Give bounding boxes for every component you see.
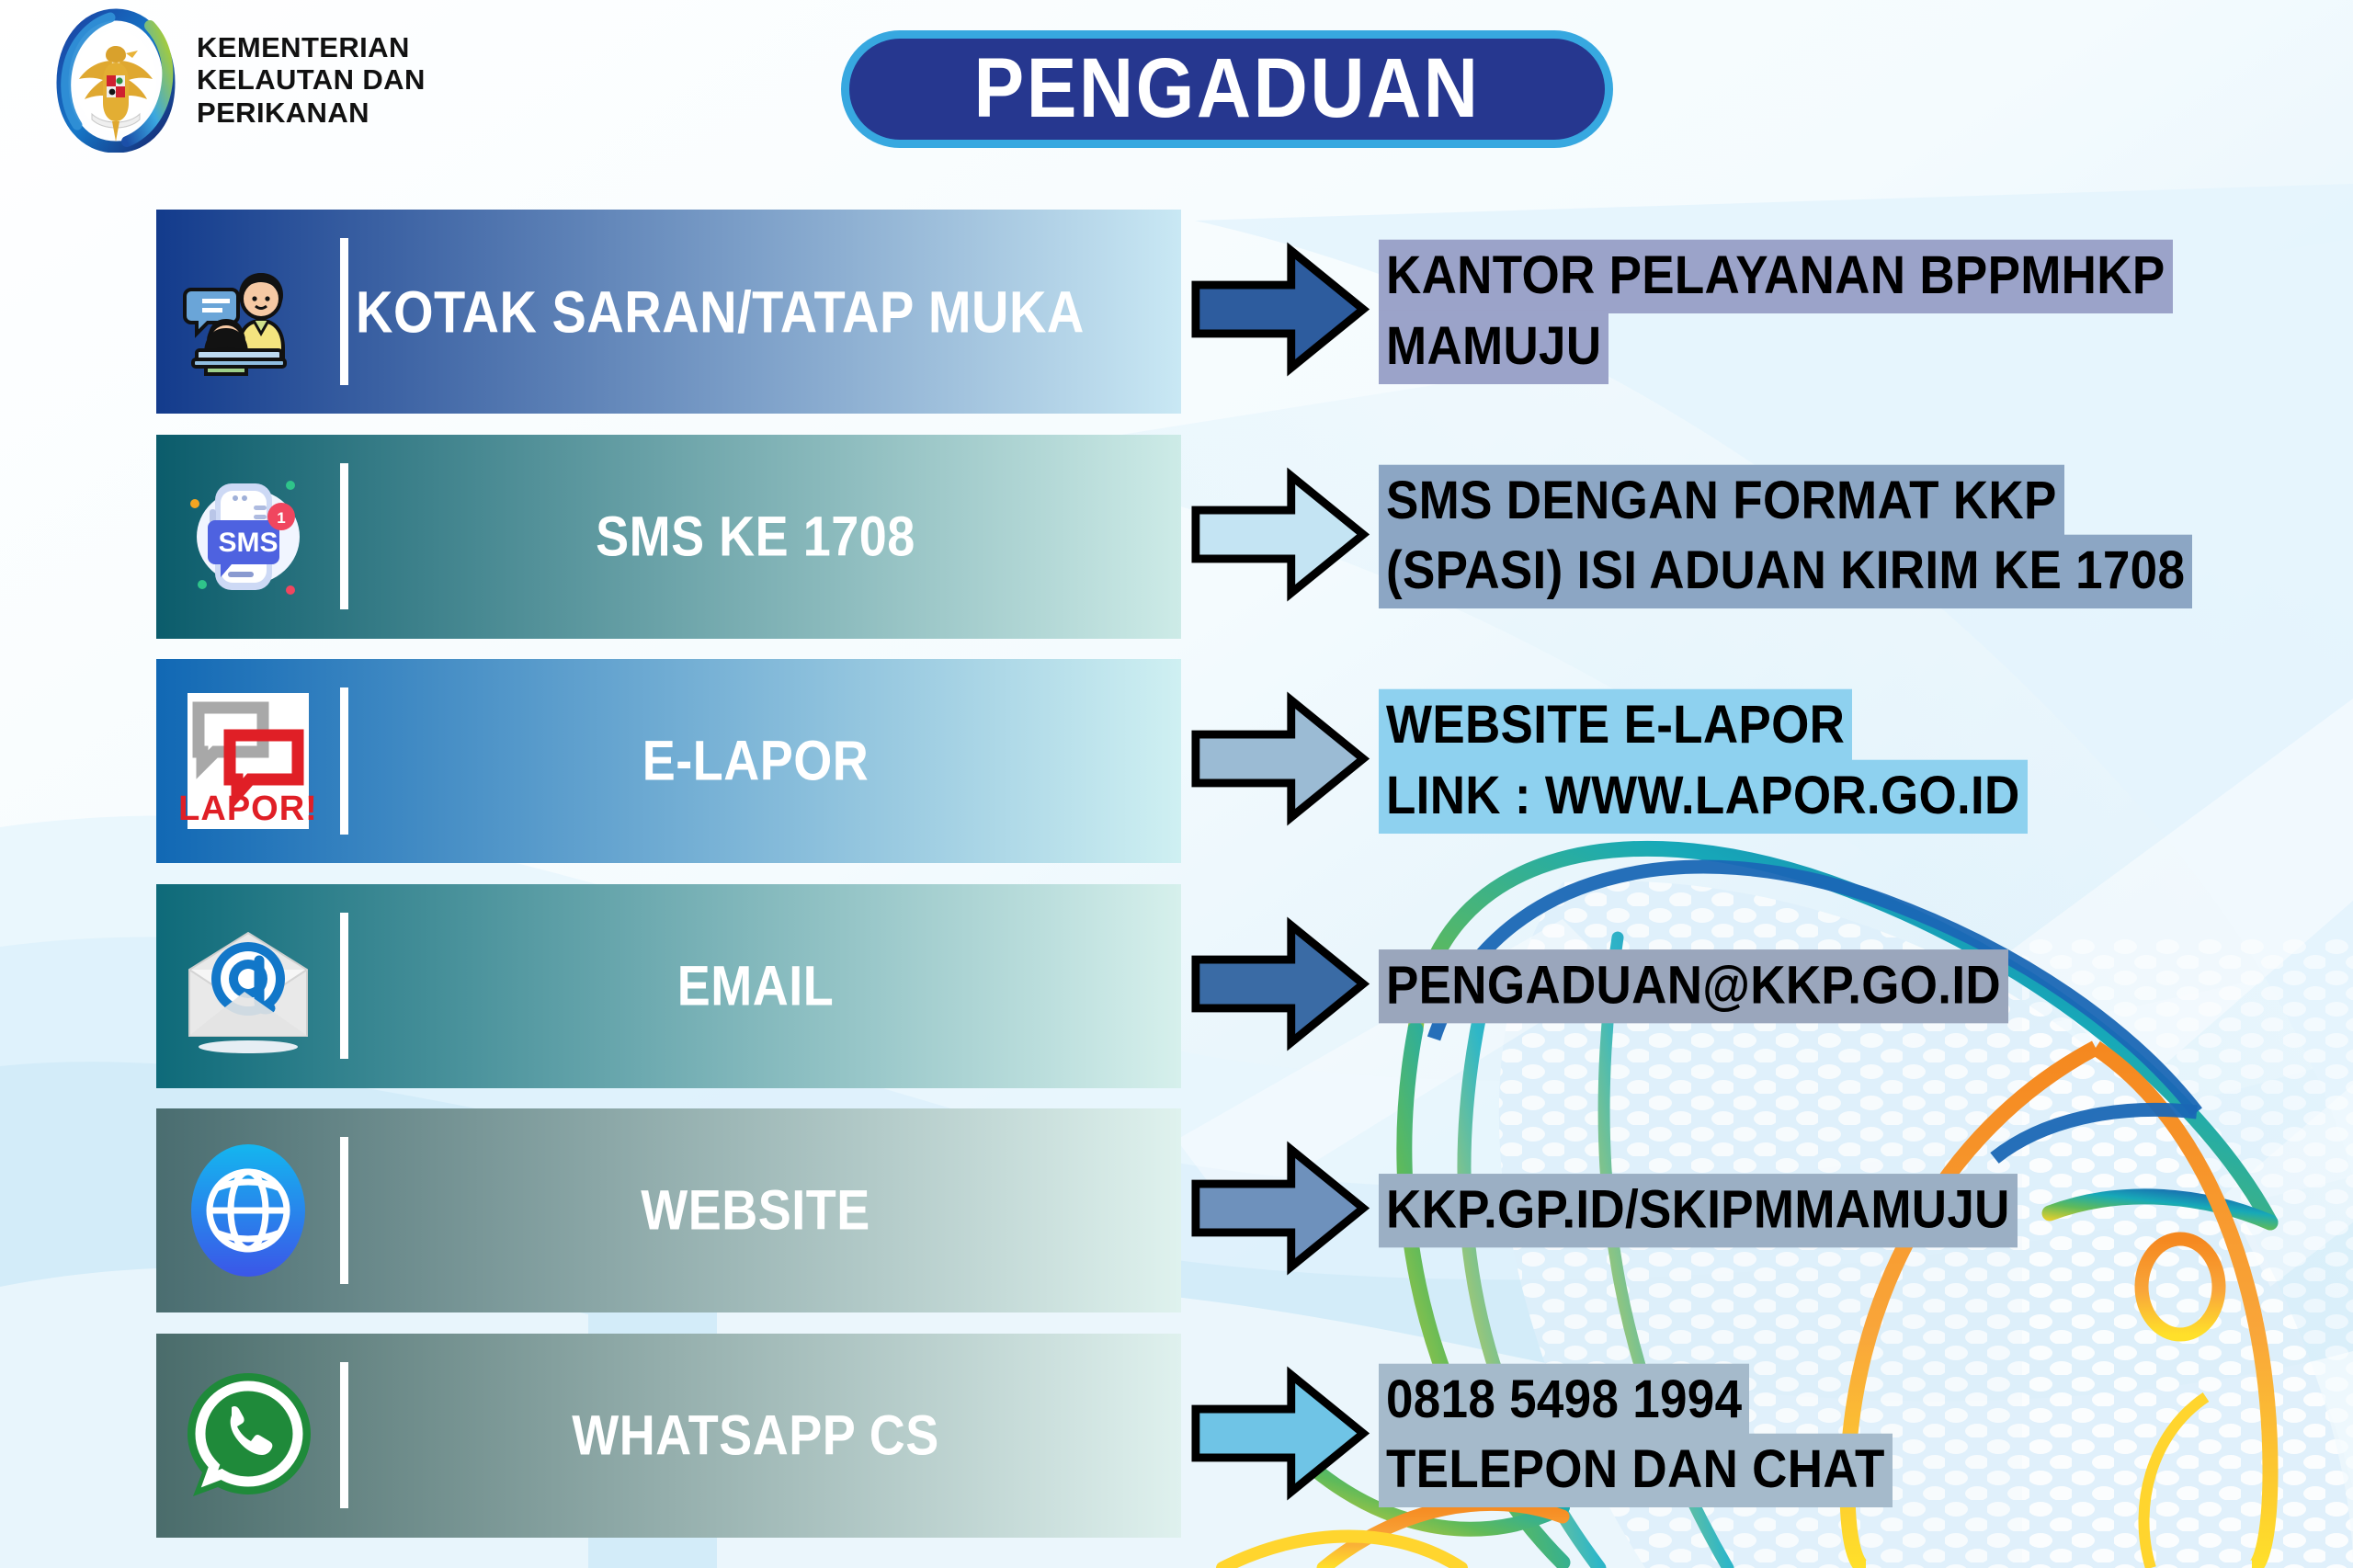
channel-detail: SMS DENGAN FORMAT KKP(SPASI) ISI ADUAN K… bbox=[1379, 468, 2192, 605]
channel-bar[interactable]: LAPOR! E-LAPOR bbox=[156, 659, 1181, 863]
channel-detail: WEBSITE E-LAPORLINK : WWW.LAPOR.GO.ID bbox=[1379, 692, 2028, 829]
arrow-right-icon bbox=[1190, 691, 1370, 832]
channel-bar[interactable]: WEBSITE bbox=[156, 1108, 1181, 1312]
sms-phone-icon: SMS 1 bbox=[156, 435, 340, 639]
channel-detail-line: KANTOR PELAYANAN BPPMHKP bbox=[1379, 240, 2173, 313]
page-title: PENGADUAN bbox=[974, 47, 1481, 131]
bar-divider bbox=[340, 1362, 348, 1509]
arrow-right-icon bbox=[1190, 466, 1370, 607]
channel-bar[interactable]: SMS 1 SMS KE 1708 bbox=[156, 435, 1181, 639]
channel-detail-line: MAMUJU bbox=[1379, 310, 1608, 383]
bar-divider bbox=[340, 913, 348, 1060]
ministry-name-line3: PERIKANAN bbox=[197, 97, 426, 129]
header: KEMENTERIAN KELAUTAN DAN PERIKANAN PENGA… bbox=[0, 0, 2353, 184]
channel-row: EMAIL PENGADUAN@KKP.GO.ID bbox=[0, 884, 2353, 1088]
arrow-right-icon bbox=[1190, 1141, 1370, 1281]
ministry-logo-block: KEMENTERIAN KELAUTAN DAN PERIKANAN bbox=[55, 7, 426, 153]
svg-text:1: 1 bbox=[277, 509, 285, 527]
channel-detail: PENGADUAN@KKP.GO.ID bbox=[1379, 952, 2008, 1019]
channel-label: WHATSAPP CS bbox=[348, 1403, 1181, 1468]
arrow-right-icon bbox=[1190, 242, 1370, 382]
kkp-garuda-emblem-icon bbox=[55, 7, 176, 153]
channel-detail: KKP.GP.ID/SKIPMMAMUJU bbox=[1379, 1177, 2018, 1244]
channel-detail-line: LINK : WWW.LAPOR.GO.ID bbox=[1379, 759, 2028, 833]
bar-divider bbox=[340, 687, 348, 835]
customer-service-people-icon bbox=[156, 210, 340, 414]
globe-website-icon bbox=[156, 1108, 340, 1312]
channel-bar[interactable]: EMAIL bbox=[156, 884, 1181, 1088]
bar-divider bbox=[340, 238, 348, 385]
bar-divider bbox=[340, 1137, 348, 1284]
channel-detail: 0818 5498 1994TELEPON DAN CHAT bbox=[1379, 1367, 1893, 1504]
arrow-right-icon bbox=[1190, 1365, 1370, 1506]
page-title-badge: PENGADUAN bbox=[841, 30, 1613, 148]
email-envelope-at-icon bbox=[156, 884, 340, 1088]
ministry-name-line1: KEMENTERIAN bbox=[197, 31, 426, 63]
channel-label: SMS KE 1708 bbox=[348, 504, 1181, 569]
channel-detail-line: PENGADUAN@KKP.GO.ID bbox=[1379, 949, 2008, 1023]
ministry-name: KEMENTERIAN KELAUTAN DAN PERIKANAN bbox=[197, 31, 426, 129]
svg-text:LAPOR!: LAPOR! bbox=[178, 790, 318, 828]
channel-detail: KANTOR PELAYANAN BPPMHKPMAMUJU bbox=[1379, 243, 2173, 380]
channel-label: WEBSITE bbox=[348, 1178, 1181, 1244]
channel-list: KOTAK SARAN/TATAP MUKA KANTOR PELAYANAN … bbox=[0, 0, 2353, 1568]
channel-bar[interactable]: WHATSAPP CS bbox=[156, 1334, 1181, 1538]
channel-detail-line: WEBSITE E-LAPOR bbox=[1379, 689, 1852, 763]
channel-row: KOTAK SARAN/TATAP MUKA KANTOR PELAYANAN … bbox=[0, 210, 2353, 414]
arrow-right-icon bbox=[1190, 915, 1370, 1056]
ministry-name-line2: KELAUTAN DAN bbox=[197, 63, 426, 96]
channel-detail-line: TELEPON DAN CHAT bbox=[1379, 1434, 1893, 1507]
channel-detail-line: SMS DENGAN FORMAT KKP bbox=[1379, 464, 2064, 538]
channel-row: WHATSAPP CS 0818 5498 1994TELEPON DAN CH… bbox=[0, 1334, 2353, 1538]
channel-row: WEBSITE KKP.GP.ID/SKIPMMAMUJU bbox=[0, 1108, 2353, 1312]
channel-detail-line: KKP.GP.ID/SKIPMMAMUJU bbox=[1379, 1174, 2018, 1247]
channel-bar[interactable]: KOTAK SARAN/TATAP MUKA bbox=[156, 210, 1181, 414]
lapor-logo-icon: LAPOR! bbox=[156, 659, 340, 863]
channel-row: LAPOR! E-LAPOR WEBSITE E-LAPORLINK : WWW… bbox=[0, 659, 2353, 863]
channel-detail-line: (SPASI) ISI ADUAN KIRIM KE 1708 bbox=[1379, 535, 2192, 608]
channel-label: KOTAK SARAN/TATAP MUKA bbox=[348, 278, 1181, 346]
bar-divider bbox=[340, 463, 348, 610]
channel-label: EMAIL bbox=[348, 953, 1181, 1018]
whatsapp-phone-icon bbox=[156, 1334, 340, 1538]
channel-row: SMS 1 SMS KE 1708 SMS DENGAN FORMAT KKP(… bbox=[0, 435, 2353, 639]
svg-text:SMS: SMS bbox=[218, 528, 278, 558]
channel-label: E-LAPOR bbox=[348, 729, 1181, 794]
channel-detail-line: 0818 5498 1994 bbox=[1379, 1363, 1749, 1437]
